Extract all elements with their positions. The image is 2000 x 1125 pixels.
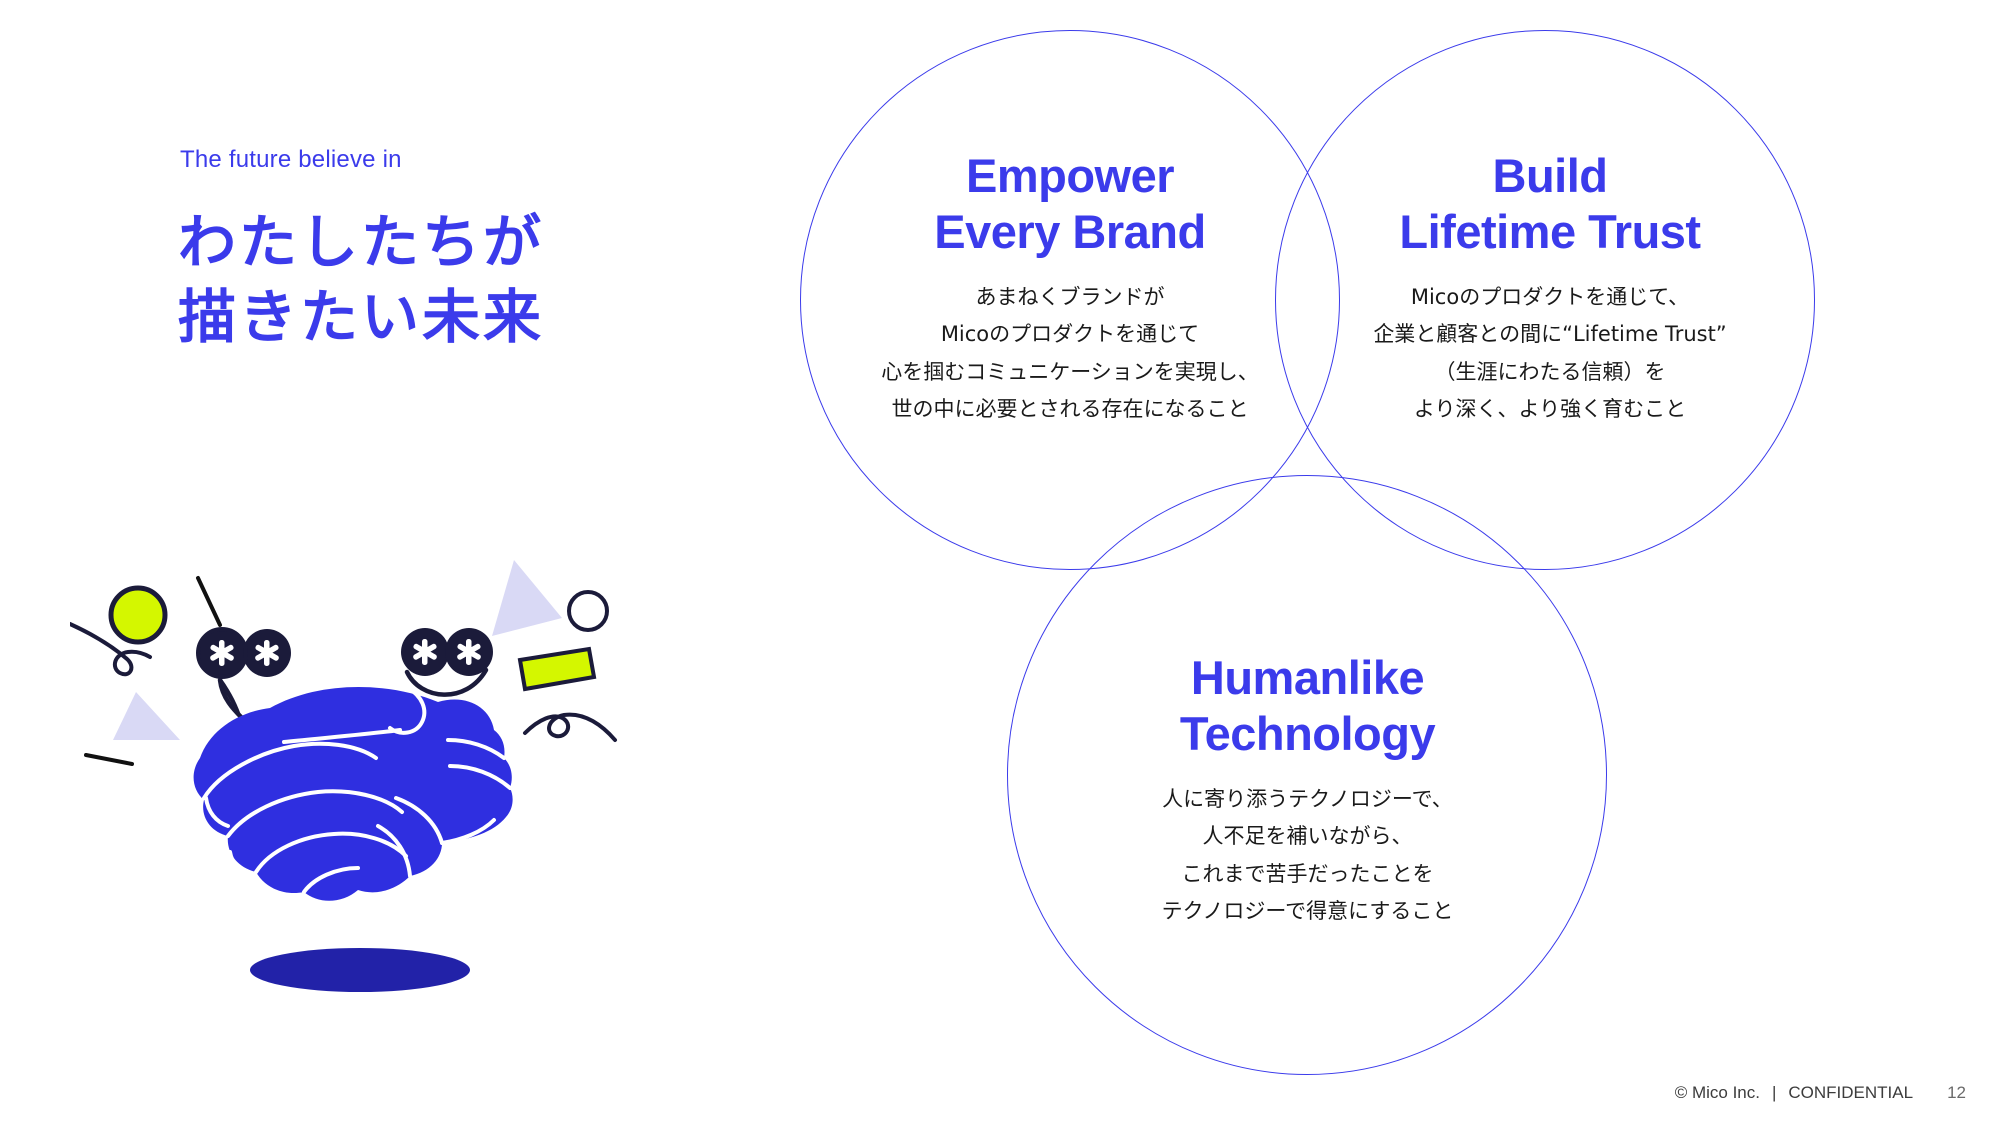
- headline-line-2: 描きたい未来: [178, 280, 544, 355]
- venn-body-trust-line-2: 企業と顧客との間に“Lifetime Trust”: [1250, 316, 1850, 353]
- face-right-icon: [401, 628, 493, 695]
- venn-title-humanlike: Humanlike Technology: [985, 650, 1630, 763]
- handshake-illustration: [70, 560, 630, 1020]
- venn-title-trust: Build Lifetime Trust: [1250, 148, 1850, 261]
- page-title: わたしたちが 描きたい未来: [178, 205, 544, 356]
- venn-body-humanlike-line-2: 人不足を補いながら、: [985, 818, 1630, 855]
- ellipse-shadow-icon: [250, 948, 470, 992]
- page-number: 12: [1947, 1083, 1966, 1103]
- eyebrow-text: The future believe in: [180, 146, 402, 174]
- venn-title-trust-line-1: Build: [1250, 148, 1850, 204]
- venn-title-trust-line-2: Lifetime Trust: [1250, 204, 1850, 260]
- venn-label-trust: Build Lifetime Trust Micoのプロダクトを通じて、 企業と…: [1250, 148, 1850, 428]
- venn-diagram: Empower Every Brand あまねくブランドが Micoのプロダクト…: [760, 0, 2000, 1125]
- venn-body-humanlike-line-3: これまで苦手だったことを: [985, 856, 1630, 893]
- venn-body-humanlike-line-1: 人に寄り添うテクノロジーで、: [985, 781, 1630, 818]
- venn-body-trust-line-3: （生涯にわたる信頼）を: [1250, 354, 1850, 391]
- lavender-triangle-right-icon: [492, 560, 562, 636]
- left-column: The future believe in わたしたちが 描きたい未来: [0, 0, 760, 1125]
- venn-title-humanlike-line-2: Technology: [985, 706, 1630, 762]
- venn-body-trust-line-4: より深く、より強く育むこと: [1250, 391, 1850, 428]
- venn-body-humanlike: 人に寄り添うテクノロジーで、 人不足を補いながら、 これまで苦手だったことを テ…: [985, 781, 1630, 931]
- venn-body-trust: Micoのプロダクトを通じて、 企業と顧客との間に“Lifetime Trust…: [1250, 279, 1850, 429]
- footer: © Mico Inc. | CONFIDENTIAL 12: [1675, 1083, 1966, 1103]
- venn-label-humanlike: Humanlike Technology 人に寄り添うテクノロジーで、 人不足を…: [985, 650, 1630, 930]
- venn-title-humanlike-line-1: Humanlike: [985, 650, 1630, 706]
- footer-separator: |: [1772, 1083, 1776, 1103]
- lavender-triangle-left-icon: [113, 692, 180, 740]
- outline-circle-icon: [569, 592, 607, 630]
- squiggle-right-icon: [525, 715, 615, 740]
- black-horizontal-line-icon: [86, 755, 132, 764]
- footer-copyright: © Mico Inc.: [1675, 1083, 1760, 1103]
- footer-confidential: CONFIDENTIAL: [1788, 1083, 1913, 1103]
- lime-rectangle-icon: [520, 649, 594, 689]
- headline-line-1: わたしたちが: [178, 205, 544, 280]
- venn-body-trust-line-1: Micoのプロダクトを通じて、: [1250, 279, 1850, 316]
- handshake-hands-icon: [194, 687, 513, 992]
- venn-body-humanlike-line-4: テクノロジーで得意にすること: [985, 893, 1630, 930]
- lime-circle-icon: [111, 588, 165, 642]
- black-diagonal-line-icon: [198, 578, 220, 625]
